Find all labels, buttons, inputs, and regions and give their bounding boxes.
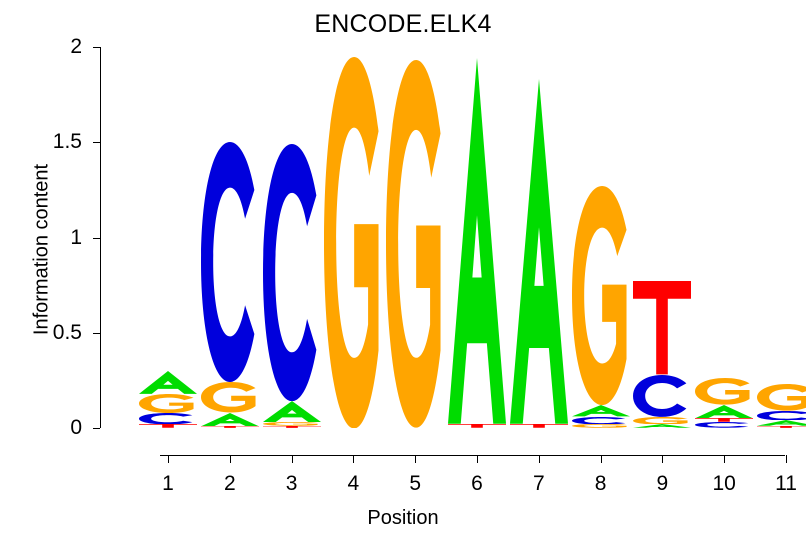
x-tick-label-1: 1 <box>138 472 198 496</box>
logo-letter-6-A <box>448 58 506 424</box>
logo-letter-11-C <box>757 411 806 421</box>
logo-letter-10-A <box>695 405 753 418</box>
x-tick-label-8: 8 <box>571 472 631 496</box>
x-axis-title: Position <box>0 507 806 530</box>
logo-letter-6-T <box>448 424 506 428</box>
y-tick-0 <box>93 428 100 429</box>
y-tick-1.5 <box>93 142 100 143</box>
x-tick-label-2: 2 <box>200 472 260 496</box>
x-tick-label-7: 7 <box>509 472 569 496</box>
logo-letter-11-A <box>757 420 806 426</box>
x-axis-line <box>160 455 785 456</box>
y-axis-title: Information content <box>31 150 54 350</box>
logo-letter-4-G <box>324 57 382 428</box>
x-tick-label-10: 10 <box>694 472 754 496</box>
x-tick-6 <box>477 455 478 463</box>
logo-letter-2-A <box>201 413 259 426</box>
logo-letter-1-A <box>139 371 197 394</box>
x-tick-label-4: 4 <box>323 472 383 496</box>
x-tick-label-11: 11 <box>756 472 806 496</box>
y-tick-label-0: 0 <box>38 416 82 440</box>
logo-letter-3-G <box>263 422 321 426</box>
logo-letter-2-G <box>201 382 259 412</box>
x-tick-4 <box>353 455 354 463</box>
y-tick-0.5 <box>93 333 100 334</box>
x-tick-11 <box>786 455 787 463</box>
logo-letter-11-T <box>757 426 806 428</box>
x-tick-2 <box>230 455 231 463</box>
logo-letter-2-T <box>201 426 259 428</box>
x-tick-label-5: 5 <box>385 472 445 496</box>
logo-letter-5-G <box>386 60 444 428</box>
y-tick-1 <box>93 238 100 239</box>
page-title: ENCODE.ELK4 <box>0 10 806 39</box>
sequence-logo-figure: ENCODE.ELK4 00.511.52 Information conten… <box>0 0 806 559</box>
x-tick-1 <box>168 455 169 463</box>
logo-letter-11-G <box>757 384 806 411</box>
x-tick-label-3: 3 <box>262 472 322 496</box>
logo-letter-3-A <box>263 401 321 422</box>
y-tick-2 <box>93 47 100 48</box>
logo-letter-10-C <box>695 422 753 428</box>
x-tick-8 <box>601 455 602 463</box>
logo-letter-1-G <box>139 394 197 413</box>
logo-letter-7-A <box>510 79 568 424</box>
logo-letter-9-A <box>633 424 691 428</box>
x-tick-label-9: 9 <box>632 472 692 496</box>
x-tick-5 <box>415 455 416 463</box>
logo-letter-9-C <box>633 375 691 417</box>
logo-letter-1-T <box>139 424 197 428</box>
logo-letter-10-T <box>695 418 753 422</box>
logo-letter-3-T <box>263 426 321 428</box>
logo-letter-8-A <box>572 405 630 416</box>
y-axis-line <box>100 47 101 428</box>
logo-letter-9-T <box>633 281 691 374</box>
logo-letter-9-G <box>633 417 691 425</box>
x-tick-label-6: 6 <box>447 472 507 496</box>
logo-letter-2-C <box>201 142 259 382</box>
x-tick-10 <box>724 455 725 463</box>
logo-letter-8-G <box>572 424 630 428</box>
logo-letter-7-T <box>510 424 568 428</box>
x-tick-3 <box>292 455 293 463</box>
logo-letter-8-C <box>572 417 630 425</box>
logo-letter-10-G <box>695 378 753 405</box>
logo-letter-1-C <box>139 413 197 424</box>
x-tick-7 <box>539 455 540 463</box>
logo-letter-3-C <box>263 144 321 401</box>
y-tick-label-2: 2 <box>38 35 82 59</box>
logo-letter-8-G <box>572 186 630 405</box>
x-tick-9 <box>662 455 663 463</box>
